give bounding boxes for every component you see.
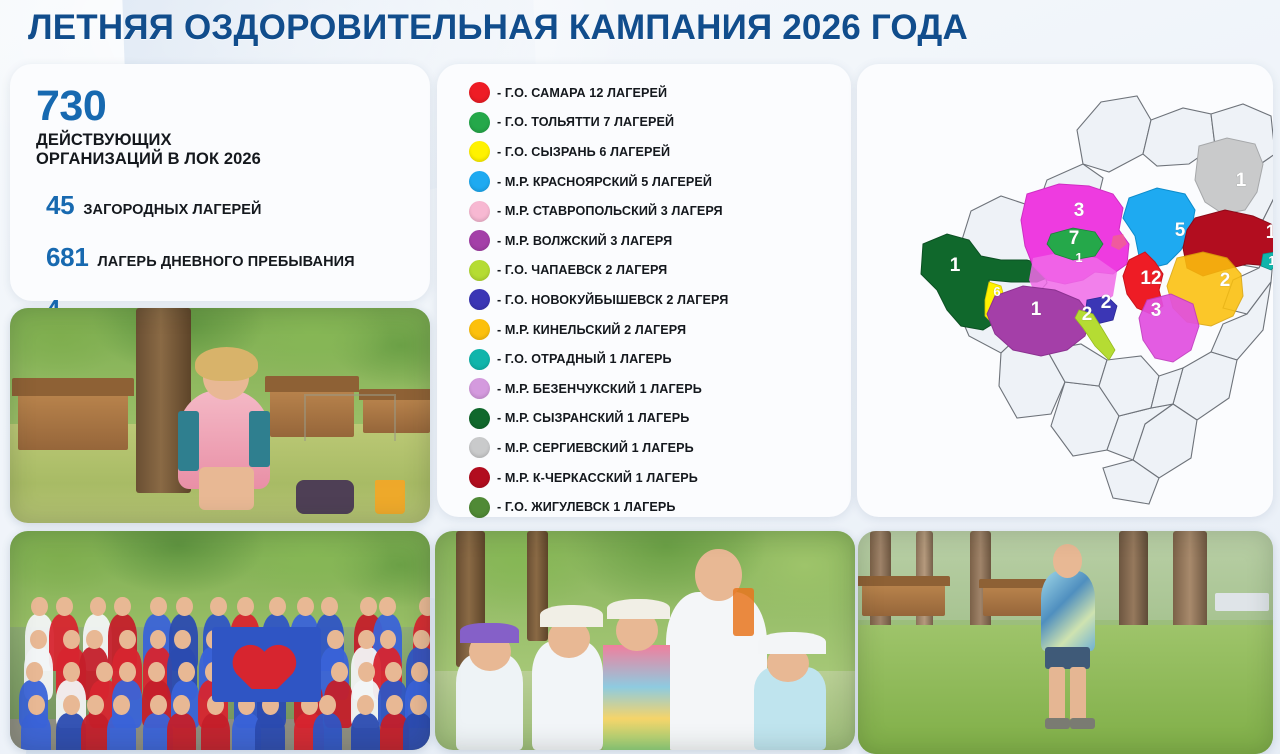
total-organizations-number: 730 (36, 86, 404, 127)
map-label-6: 6 (993, 284, 1000, 299)
legend-item-label: - М.Р. КРАСНОЯРСКИЙ 5 ЛАГЕРЕЙ (497, 175, 712, 189)
legend-color-swatch (469, 378, 490, 399)
legend-item[interactable]: - Г.О. СЫЗРАНЬ 6 ЛАГЕРЕЙ (469, 137, 851, 167)
legend-item[interactable]: - Г.О. ОТРАДНЫЙ 1 ЛАГЕРЬ (469, 344, 851, 374)
legend-color-swatch (469, 289, 490, 310)
legend-item-label: - М.Р. СТАВРОПОЛЬСКИЙ 3 ЛАГЕРЯ (497, 204, 723, 218)
region-volzhskiy (1139, 294, 1199, 362)
legend-item-label: - М.Р. СЕРГИЕВСКИЙ 1 ЛАГЕРЬ (497, 441, 694, 455)
legend-item[interactable]: - М.Р. СЕРГИЕВСКИЙ 1 ЛАГЕРЬ (469, 433, 851, 463)
legend-item-label: - М.Р. БЕЗЕНЧУКСКИЙ 1 ЛАГЕРЬ (497, 382, 702, 396)
map-label-12: 12 (1140, 268, 1161, 289)
legend-item-label: - Г.О. СЫЗРАНЬ 6 ЛАГЕРЕЙ (497, 145, 670, 159)
legend-item-label: - М.Р. ВОЛЖСКИЙ 3 ЛАГЕРЯ (497, 234, 672, 248)
stat-number: 681 (46, 242, 88, 273)
map-label-1: 1 (1268, 253, 1273, 268)
photo-girl-tree (10, 308, 430, 523)
legend-card: - Г.О. САМАРА 12 ЛАГЕРЕЙ- Г.О. ТОЛЬЯТТИ … (437, 64, 851, 517)
legend-color-swatch (469, 171, 490, 192)
legend-item-label: - Г.О. САМАРА 12 ЛАГЕРЕЙ (497, 86, 667, 100)
total-organizations-label-line1: ДЕЙСТВУЮЩИХ (36, 131, 404, 150)
page-title: ЛЕТНЯЯ ОЗДОРОВИТЕЛЬНАЯ КАМПАНИЯ 2026 ГОД… (28, 8, 968, 48)
map-label-7: 7 (1069, 228, 1080, 249)
map-label-1: 1 (1266, 222, 1273, 243)
legend-item-label: - М.Р. КИНЕЛЬСКИЙ 2 ЛАГЕРЯ (497, 323, 686, 337)
legend-list: - Г.О. САМАРА 12 ЛАГЕРЕЙ- Г.О. ТОЛЬЯТТИ … (469, 78, 851, 522)
map-label-1: 1 (1031, 299, 1042, 320)
legend-color-swatch (469, 230, 490, 251)
samara-oblast-map: 1637151111223122 (857, 68, 1273, 516)
legend-item[interactable]: - Г.О. ЧАПАЕВСК 2 ЛАГЕРЯ (469, 256, 851, 286)
legend-item[interactable]: - М.Р. БЕЗЕНЧУКСКИЙ 1 ЛАГЕРЬ (469, 374, 851, 404)
map-label-1: 1 (1236, 170, 1247, 191)
legend-item-label: - Г.О. НОВОКУЙБЫШЕВСК 2 ЛАГЕРЯ (497, 293, 728, 307)
map-label-3: 3 (1074, 200, 1085, 221)
stat-number: 45 (46, 190, 74, 221)
legend-color-swatch (469, 112, 490, 133)
legend-color-swatch (469, 260, 490, 281)
legend-color-swatch (469, 497, 490, 518)
legend-item[interactable]: - Г.О. ТОЛЬЯТТИ 7 ЛАГЕРЕЙ (469, 108, 851, 138)
map-label-3: 3 (1151, 300, 1162, 321)
legend-color-swatch (469, 408, 490, 429)
legend-item[interactable]: - Г.О. НОВОКУЙБЫШЕВСК 2 ЛАГЕРЯ (469, 285, 851, 315)
map-label-2: 2 (1101, 292, 1112, 313)
legend-item-label: - М.Р. К-ЧЕРКАССКИЙ 1 ЛАГЕРЬ (497, 471, 698, 485)
map-label-1: 1 (1075, 250, 1082, 265)
legend-item[interactable]: - М.Р. К-ЧЕРКАССКИЙ 1 ЛАГЕРЬ (469, 463, 851, 493)
photo-girl-forest (858, 531, 1273, 754)
stat-label: ЛАГЕРЬ ДНЕВНОГО ПРЕБЫВАНИЯ (97, 254, 354, 270)
legend-color-swatch (469, 437, 490, 458)
legend-color-swatch (469, 201, 490, 222)
photo-kids (435, 531, 855, 750)
legend-item-label: - Г.О. ЖИГУЛЕВСК 1 ЛАГЕРЬ (497, 500, 676, 514)
legend-item-label: - Г.О. ЧАПАЕВСК 2 ЛАГЕРЯ (497, 263, 667, 277)
legend-item[interactable]: - М.Р. КИНЕЛЬСКИЙ 2 ЛАГЕРЯ (469, 315, 851, 345)
stat-row-country-camps: 45 ЗАГОРОДНЫХ ЛАГЕРЕЙ (36, 190, 404, 221)
legend-item[interactable]: - Г.О. САМАРА 12 ЛАГЕРЕЙ (469, 78, 851, 108)
legend-item[interactable]: - М.Р. ВОЛЖСКИЙ 3 ЛАГЕРЯ (469, 226, 851, 256)
legend-item[interactable]: - М.Р. СЫЗРАНСКИЙ 1 ЛАГЕРЬ (469, 404, 851, 434)
map-label-2: 2 (1220, 270, 1231, 291)
legend-item-label: - М.Р. СЫЗРАНСКИЙ 1 ЛАГЕРЬ (497, 411, 689, 425)
legend-color-swatch (469, 349, 490, 370)
legend-item-label: - Г.О. ТОЛЬЯТТИ 7 ЛАГЕРЕЙ (497, 115, 674, 129)
map-label-5: 5 (1175, 220, 1186, 241)
legend-item[interactable]: - Г.О. ЖИГУЛЕВСК 1 ЛАГЕРЬ (469, 492, 851, 522)
legend-item[interactable]: - М.Р. КРАСНОЯРСКИЙ 5 ЛАГЕРЕЙ (469, 167, 851, 197)
total-organizations-label-line2: ОРГАНИЗАЦИЙ В ЛОК 2026 (36, 150, 404, 169)
legend-item[interactable]: - М.Р. СТАВРОПОЛЬСКИЙ 3 ЛАГЕРЯ (469, 196, 851, 226)
map-card: 1637151111223122 (857, 64, 1273, 517)
stat-label: ЗАГОРОДНЫХ ЛАГЕРЕЙ (83, 202, 261, 218)
map-label-1: 1 (950, 255, 961, 276)
stat-row-day-camps: 681 ЛАГЕРЬ ДНЕВНОГО ПРЕБЫВАНИЯ (36, 242, 404, 273)
legend-color-swatch (469, 82, 490, 103)
legend-color-swatch (469, 467, 490, 488)
legend-item-label: - Г.О. ОТРАДНЫЙ 1 ЛАГЕРЬ (497, 352, 672, 366)
map-label-2: 2 (1082, 304, 1093, 325)
legend-color-swatch (469, 141, 490, 162)
legend-color-swatch (469, 319, 490, 340)
photo-group (10, 531, 430, 750)
statistics-card: 730 ДЕЙСТВУЮЩИХ ОРГАНИЗАЦИЙ В ЛОК 2026 4… (10, 64, 430, 301)
